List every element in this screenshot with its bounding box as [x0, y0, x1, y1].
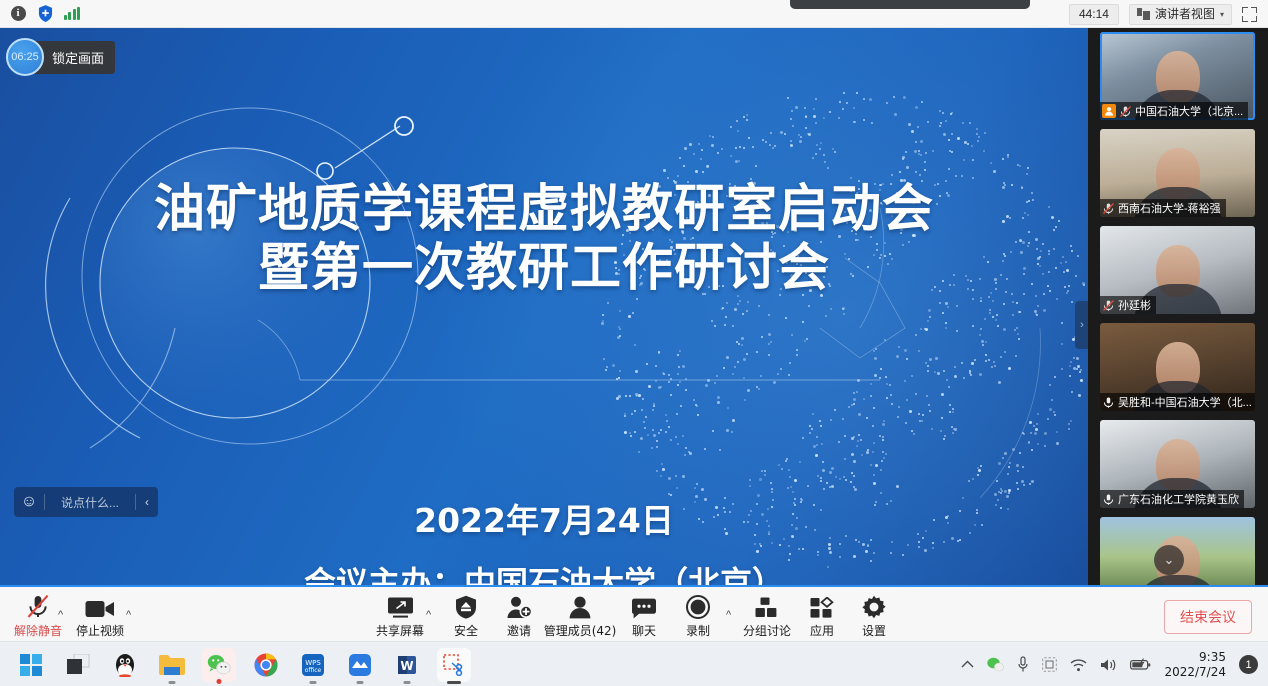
top-bar: i 44:14 演讲者视图 ▾	[0, 0, 1268, 28]
task-view-icon	[67, 654, 90, 675]
zoom-meeting-window: i 44:14 演讲者视图 ▾	[0, 0, 1268, 686]
top-bar-right: 44:14 演讲者视图 ▾	[1069, 0, 1262, 28]
clock-time: 9:35	[1164, 650, 1226, 665]
participant-name-label: 广东石油化工学院黄玉欣	[1100, 490, 1244, 508]
taskbar-item-wechat[interactable]	[202, 648, 236, 682]
control-label: 分组讨论	[743, 622, 791, 639]
view-mode-label: 演讲者视图	[1155, 7, 1215, 22]
control-share-screen-chevron-up-icon[interactable]: ^	[426, 609, 431, 621]
control-label: 共享屏幕	[376, 622, 424, 639]
meeting-control-bar: 结束会议 解除静音^停止视频^共享屏幕^安全邀请管理成员(42)聊天录制^分组讨…	[0, 585, 1268, 641]
panel-collapse-handle[interactable]: ›	[1075, 301, 1088, 349]
taskbar-item-start-windows[interactable]	[14, 648, 48, 682]
running-indicator	[357, 681, 364, 684]
lock-countdown: 06:25	[6, 38, 44, 76]
chevron-down-icon[interactable]: ⌄	[1154, 545, 1184, 575]
top-bar-left-icons: i	[0, 4, 82, 24]
windows-taskbar: WPS office W	[0, 641, 1268, 686]
wifi-icon[interactable]	[1070, 658, 1087, 672]
taskbar-item-chrome[interactable]	[249, 648, 283, 682]
chat-input[interactable]: 说点什么...	[45, 494, 135, 511]
participant-strip[interactable]: 中国石油大学（北京... 西南石油大学-蒋裕强 孙廷彬 吴胜和-中国石油大学（北…	[1088, 28, 1268, 585]
snipping-tool-icon	[443, 654, 465, 676]
svg-text:office: office	[305, 667, 322, 674]
slide-title: 油矿地质学课程虚拟教研室启动会 暨第一次教研工作研讨会	[0, 180, 1088, 298]
participants-icon	[568, 592, 592, 619]
control-label: 聊天	[632, 622, 656, 639]
share-screen-icon	[387, 592, 414, 619]
slide-title-line1: 油矿地质学课程虚拟教研室启动会	[0, 180, 1088, 239]
wps-icon: WPS office	[302, 654, 324, 676]
host-badge-icon	[1102, 104, 1116, 118]
participant-tile[interactable]: 广东石油化工学院黄玉欣	[1100, 420, 1255, 508]
mic-muted-icon	[26, 592, 50, 619]
participant-tile[interactable]: 西南石油大学-蒋裕强	[1100, 129, 1255, 217]
taskbar-item-file-explorer[interactable]	[155, 648, 189, 682]
info-icon[interactable]: i	[8, 4, 28, 24]
participant-tile[interactable]: 吴胜和-中国石油大学（北...	[1100, 323, 1255, 411]
control-stop-video-chevron-up-icon[interactable]: ^	[126, 609, 131, 621]
chat-icon	[631, 592, 657, 619]
speaker-view-icon	[1137, 8, 1150, 20]
tray-overflow-icon[interactable]	[961, 660, 974, 669]
lock-screen-badge[interactable]: 06:25 锁定画面	[6, 38, 115, 76]
taskbar-clock[interactable]: 9:35 2022/7/24	[1164, 650, 1226, 680]
volume-icon[interactable]	[1100, 658, 1117, 672]
participant-name-label: 西南石油大学-蒋裕强	[1100, 199, 1226, 217]
wechat-tray-icon[interactable]	[987, 657, 1004, 672]
control-label: 邀请	[507, 622, 531, 639]
slide-date: 2022年7月24日	[0, 500, 1088, 541]
control-label: 管理成员(42)	[544, 622, 617, 639]
control-record-chevron-up-icon[interactable]: ^	[726, 609, 731, 621]
end-meeting-button[interactable]: 结束会议	[1164, 600, 1252, 634]
participant-name-label: 中国石油大学（北京...	[1100, 102, 1248, 120]
participant-name-label: 吴胜和-中国石油大学（北...	[1100, 393, 1255, 411]
control-share-screen[interactable]: 共享屏幕	[368, 592, 432, 639]
control-record[interactable]: 录制	[666, 592, 730, 639]
active-indicator	[447, 681, 461, 684]
control-participants[interactable]: 管理成员(42)	[548, 592, 612, 639]
record-icon	[686, 592, 710, 619]
battery-icon[interactable]	[1130, 658, 1151, 671]
window-notch	[790, 0, 1030, 9]
svg-text:WPS: WPS	[305, 659, 321, 667]
ime-icon[interactable]	[1042, 657, 1057, 672]
control-label: 设置	[862, 622, 886, 639]
clock-date: 2022/7/24	[1164, 665, 1226, 680]
control-stop-video[interactable]: 停止视频	[68, 592, 132, 639]
folder-icon	[159, 654, 185, 675]
svg-text:W: W	[400, 659, 413, 673]
qq-penguin-icon	[114, 653, 136, 677]
notification-badge[interactable]: 1	[1239, 655, 1258, 674]
emoji-icon[interactable]: ☺	[14, 487, 44, 517]
taskbar-item-xunlei[interactable]	[343, 648, 377, 682]
microphone-icon[interactable]	[1017, 656, 1029, 673]
meeting-timer: 44:14	[1069, 4, 1119, 25]
signal-icon[interactable]	[62, 4, 82, 24]
slide-subtitle-block: 2022年7月24日 会议主办：中国石油大学（北京）	[0, 500, 1088, 585]
user-plus-icon	[506, 592, 532, 619]
xunlei-icon	[349, 654, 371, 676]
taskbar-item-word[interactable]: W	[390, 648, 424, 682]
control-settings[interactable]: 设置	[842, 592, 906, 639]
taskbar-item-wps[interactable]: WPS office	[296, 648, 330, 682]
shield-icon[interactable]	[35, 4, 55, 24]
participant-tile[interactable]: 孙廷彬	[1100, 226, 1255, 314]
control-label: 停止视频	[76, 622, 124, 639]
shared-screen-stage[interactable]: 油矿地质学课程虚拟教研室启动会 暨第一次教研工作研讨会 2022年7月24日 会…	[0, 28, 1088, 585]
running-indicator	[310, 681, 317, 684]
control-label: 安全	[454, 622, 478, 639]
control-label: 应用	[810, 622, 834, 639]
wechat-icon	[207, 654, 231, 675]
participant-tile[interactable]: 中国石油大学（北京...	[1100, 32, 1255, 120]
taskbar-item-task-view[interactable]	[61, 648, 95, 682]
running-indicator	[404, 681, 411, 684]
view-mode-selector[interactable]: 演讲者视图 ▾	[1129, 4, 1232, 25]
fullscreen-icon[interactable]	[1242, 7, 1257, 22]
gear-icon	[862, 592, 886, 619]
chevron-down-icon: ▾	[1220, 7, 1224, 22]
word-icon: W	[396, 654, 418, 676]
breakout-icon	[755, 592, 779, 619]
notification-indicator	[217, 679, 222, 684]
control-label: 解除静音	[14, 622, 62, 639]
control-label: 录制	[686, 622, 710, 639]
apps-icon	[810, 592, 834, 619]
quick-chat-bar[interactable]: ☺ 说点什么... ‹	[14, 487, 158, 517]
running-indicator	[169, 681, 176, 684]
slide-title-line2: 暨第一次教研工作研讨会	[0, 239, 1088, 298]
taskbar-item-snip-tool[interactable]	[437, 648, 471, 682]
chat-collapse-icon[interactable]: ‹	[136, 495, 158, 509]
shield-up-icon	[455, 592, 477, 619]
slide-host: 会议主办：中国石油大学（北京）	[0, 558, 1088, 585]
participant-name-label: 孙廷彬	[1100, 296, 1156, 314]
taskbar-apps: WPS office W	[14, 642, 471, 686]
system-tray: 9:35 2022/7/24 1	[961, 642, 1260, 686]
taskbar-item-qq[interactable]	[108, 648, 142, 682]
video-icon	[85, 592, 115, 619]
control-unmute-chevron-up-icon[interactable]: ^	[58, 609, 63, 621]
windows-icon	[20, 654, 42, 676]
chrome-icon	[254, 653, 278, 677]
control-invite[interactable]: 邀请	[487, 592, 551, 639]
